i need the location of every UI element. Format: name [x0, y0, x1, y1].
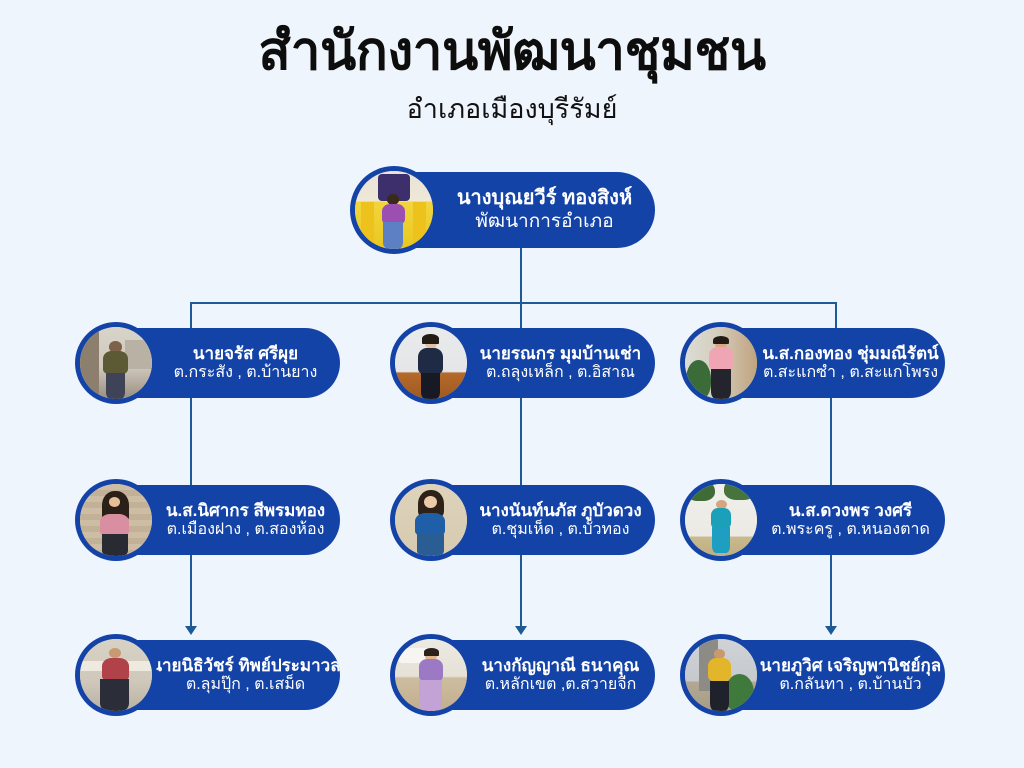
connector-col1-drop	[190, 302, 192, 328]
connector-col2-drop	[520, 302, 522, 328]
org-node-role: พัฒนาการอำเภอ	[475, 211, 613, 233]
avatar	[390, 634, 472, 716]
avatar-photo-c3r1	[685, 327, 757, 399]
avatar	[390, 322, 472, 404]
connector-row1-bus	[190, 302, 836, 304]
avatar-photo-c3r2	[685, 484, 757, 556]
connector-col2-arrowhead	[515, 626, 527, 635]
connector-col3-arrowhead	[825, 626, 837, 635]
org-node-areas: ต.กลันทา , ต.บ้านบัว	[779, 676, 921, 695]
avatar-photo-c3r3	[685, 639, 757, 711]
page-title: สำนักงานพัฒนาชุมชน	[0, 24, 1024, 80]
org-node-areas: ต.กระสัง , ต.บ้านยาง	[174, 364, 318, 383]
org-node-name: นางนันท์นภัส ภูบัวดวง	[479, 501, 641, 521]
avatar-photo-c1r1	[80, 327, 152, 399]
avatar-photo-c2r3	[395, 639, 467, 711]
org-node-name: น.ส.กองทอง ชุ่มมณีรัตน์	[762, 344, 938, 364]
org-node-name: นายภูวิศ เจริญพานิชย์กุล	[760, 656, 941, 676]
avatar	[390, 479, 472, 561]
avatar-photo-c1r2	[80, 484, 152, 556]
org-node-areas: ต.ชุมเห็ด , ต.บัวทอง	[492, 521, 630, 540]
connector-col3-drop	[835, 302, 837, 328]
avatar	[680, 322, 762, 404]
connector-col1-arrowhead	[185, 626, 197, 635]
org-node-name: นางกัญญาณี ธนาคุณ	[482, 656, 639, 676]
avatar	[680, 479, 762, 561]
org-node-name: นางบุณยวีร์ ทองสิงห์	[457, 187, 632, 211]
avatar-photo-c2r1	[395, 327, 467, 399]
org-node-name: นายนิธิวัชร์ ทิพย์ประมาวล	[150, 656, 340, 676]
avatar	[75, 634, 157, 716]
org-node-areas: ต.เมืองฝาง , ต.สองห้อง	[167, 521, 325, 540]
avatar	[680, 634, 762, 716]
avatar-photo-c2r2	[395, 484, 467, 556]
org-node-name: น.ส.นิศากร สีพรมทอง	[166, 501, 325, 521]
avatar-photo-c1r3	[80, 639, 152, 711]
page-subtitle: อำเภอเมืองบุรีรัมย์	[0, 95, 1024, 125]
avatar-photo-root	[355, 171, 433, 249]
avatar	[350, 166, 438, 254]
org-node-areas: ต.สะแกซำ , ต.สะแกโพรง	[763, 364, 938, 383]
org-node-areas: ต.หลักเขต ,ต.สวายจีก	[485, 676, 637, 695]
avatar	[75, 479, 157, 561]
org-node-name: น.ส.ดวงพร วงศรี	[789, 501, 912, 521]
org-chart-canvas: สำนักงานพัฒนาชุมชน อำเภอเมืองบุรีรัมย์ น…	[0, 0, 1024, 768]
org-node-name: นายรณกร มุมบ้านเช่า	[480, 344, 641, 364]
org-node-name: นายจรัส ศรีผุย	[193, 344, 298, 364]
org-node-areas: ต.ถลุงเหล็ก , ต.อิสาณ	[486, 364, 635, 383]
org-node-areas: ต.ลุมปุ๊ก , ต.เสม็ด	[186, 676, 305, 695]
avatar	[75, 322, 157, 404]
org-node-areas: ต.พระครู , ต.หนองตาด	[771, 521, 930, 540]
connector-root-down	[520, 248, 522, 302]
